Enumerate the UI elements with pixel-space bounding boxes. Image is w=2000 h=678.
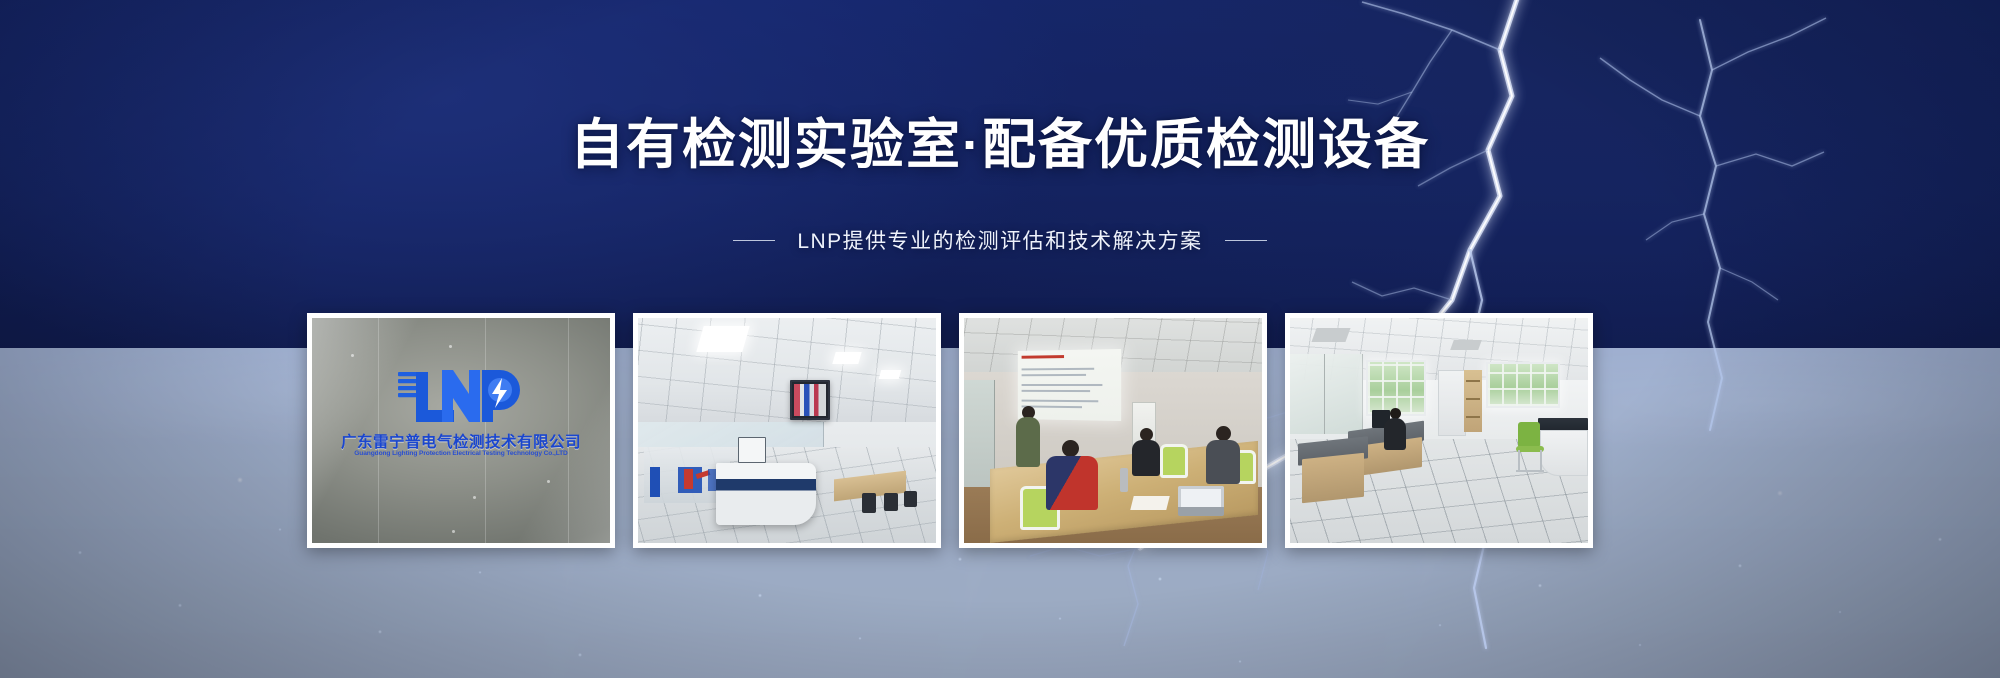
gallery-photo-training-room[interactable] (959, 313, 1267, 548)
control-console (716, 463, 816, 525)
testing-laboratory-image (638, 318, 936, 543)
subtitle-row: LNP提供专业的检测评估和技术解决方案 (0, 225, 2000, 255)
sign-company-name-en: Guangdong Lighting Protection Electrical… (312, 450, 610, 457)
lnp-logo-icon (396, 364, 526, 426)
attendee-middle (1132, 440, 1160, 476)
rule-left-icon (733, 240, 775, 241)
company-sign-image: 广东雷宁普电气检测技术有限公司 Guangdong Lighting Prote… (312, 318, 610, 543)
seated-worker (1384, 418, 1406, 450)
rule-right-icon (1225, 240, 1267, 241)
sign-company-name-cn: 广东雷宁普电气检测技术有限公司 (312, 430, 610, 452)
sign-wall: 广东雷宁普电气检测技术有限公司 Guangdong Lighting Prote… (312, 318, 610, 543)
lab-room (638, 318, 936, 543)
gallery-photo-office-area[interactable] (1285, 313, 1593, 548)
thermos (1120, 468, 1128, 492)
window-right (1486, 362, 1560, 408)
training-room-image (964, 318, 1262, 543)
meeting-room (964, 318, 1262, 543)
page-title: 自有检测实验室·配备优质检测设备 (0, 118, 2000, 172)
gallery-photo-company-sign[interactable]: 广东雷宁普电气检测技术有限公司 Guangdong Lighting Prote… (307, 313, 615, 548)
server-cabinet (1438, 370, 1466, 436)
wall-monitor (790, 380, 830, 420)
attendee-front (1046, 456, 1098, 510)
presenter (1016, 417, 1040, 467)
visitor-chair (1518, 422, 1540, 448)
hero-banner: 自有检测实验室·配备优质检测设备 LNP提供专业的检测评估和技术解决方案 (0, 0, 2000, 678)
papers (1130, 496, 1169, 510)
attendee-right (1206, 440, 1240, 484)
laptop (1178, 486, 1224, 516)
photo-gallery: 广东雷宁普电气检测技术有限公司 Guangdong Lighting Prote… (307, 313, 1593, 548)
page-subtitle: LNP提供专业的检测评估和技术解决方案 (797, 225, 1202, 255)
office-room (1290, 318, 1588, 543)
gallery-photo-testing-laboratory[interactable] (633, 313, 941, 548)
office-area-image (1290, 318, 1588, 543)
